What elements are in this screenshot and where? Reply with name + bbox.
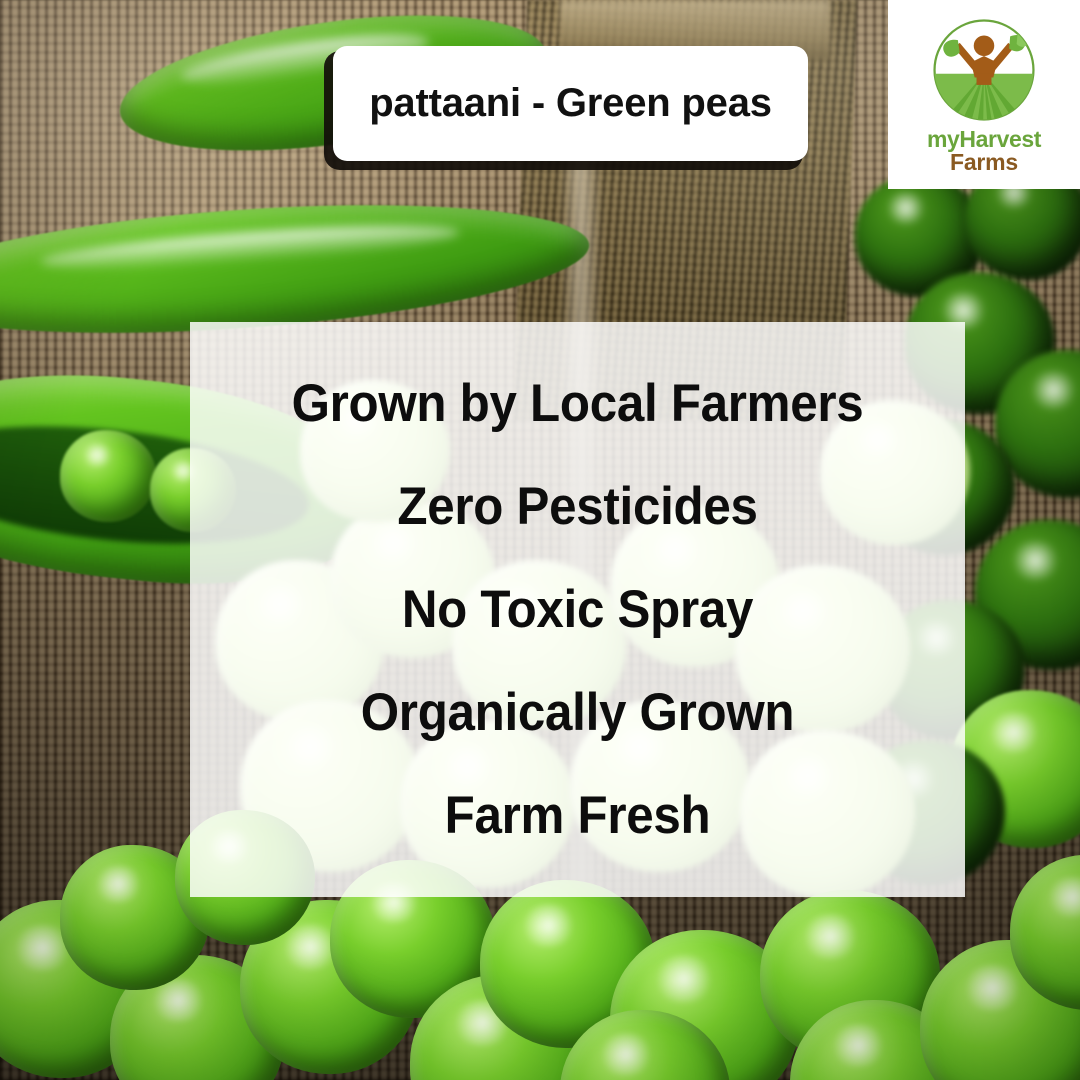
- brand-name-secondary: Farms: [927, 151, 1041, 174]
- product-promo-poster: pattaani - Green peas Grown by Local Far…: [0, 0, 1080, 1080]
- brand-wordmark: myHarvest Farms: [927, 128, 1041, 175]
- farmer-harvest-circle-icon: [928, 14, 1040, 126]
- product-title: pattaani - Green peas: [369, 81, 772, 126]
- benefits-panel: Grown by Local Farmers Zero Pesticides N…: [190, 322, 965, 897]
- pea-in-pod-1: [60, 430, 156, 522]
- benefit-item-3: No Toxic Spray: [217, 558, 938, 661]
- brand-name-primary: myHarvest: [927, 128, 1041, 151]
- brand-logo-panel: myHarvest Farms: [888, 0, 1080, 189]
- benefit-item-2: Zero Pesticides: [217, 455, 938, 558]
- benefit-item-5: Farm Fresh: [217, 764, 938, 867]
- benefit-item-1: Grown by Local Farmers: [217, 352, 938, 455]
- product-title-banner: pattaani - Green peas: [333, 46, 808, 161]
- benefit-item-4: Organically Grown: [217, 661, 938, 764]
